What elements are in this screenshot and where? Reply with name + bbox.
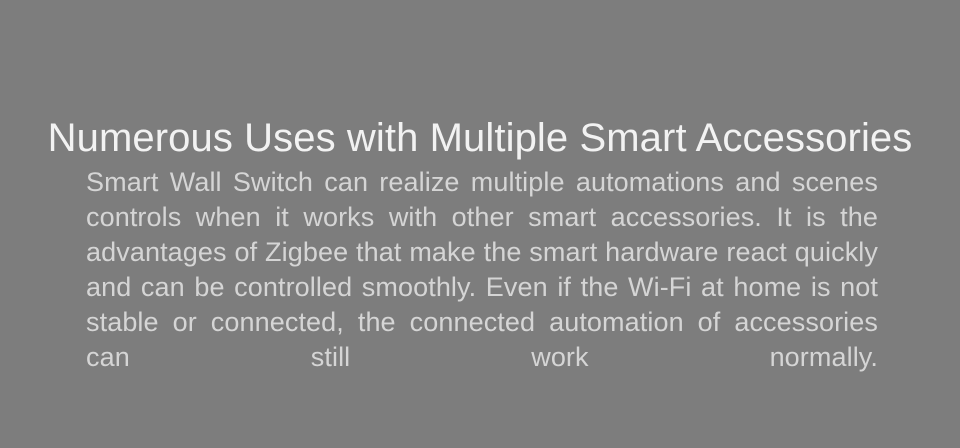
- feature-banner: Numerous Uses with Multiple Smart Access…: [0, 0, 960, 448]
- page-title: Numerous Uses with Multiple Smart Access…: [0, 115, 960, 161]
- body-paragraph: Smart Wall Switch can realize multiple a…: [86, 165, 878, 410]
- body-copy-block: Smart Wall Switch can realize multiple a…: [86, 165, 878, 410]
